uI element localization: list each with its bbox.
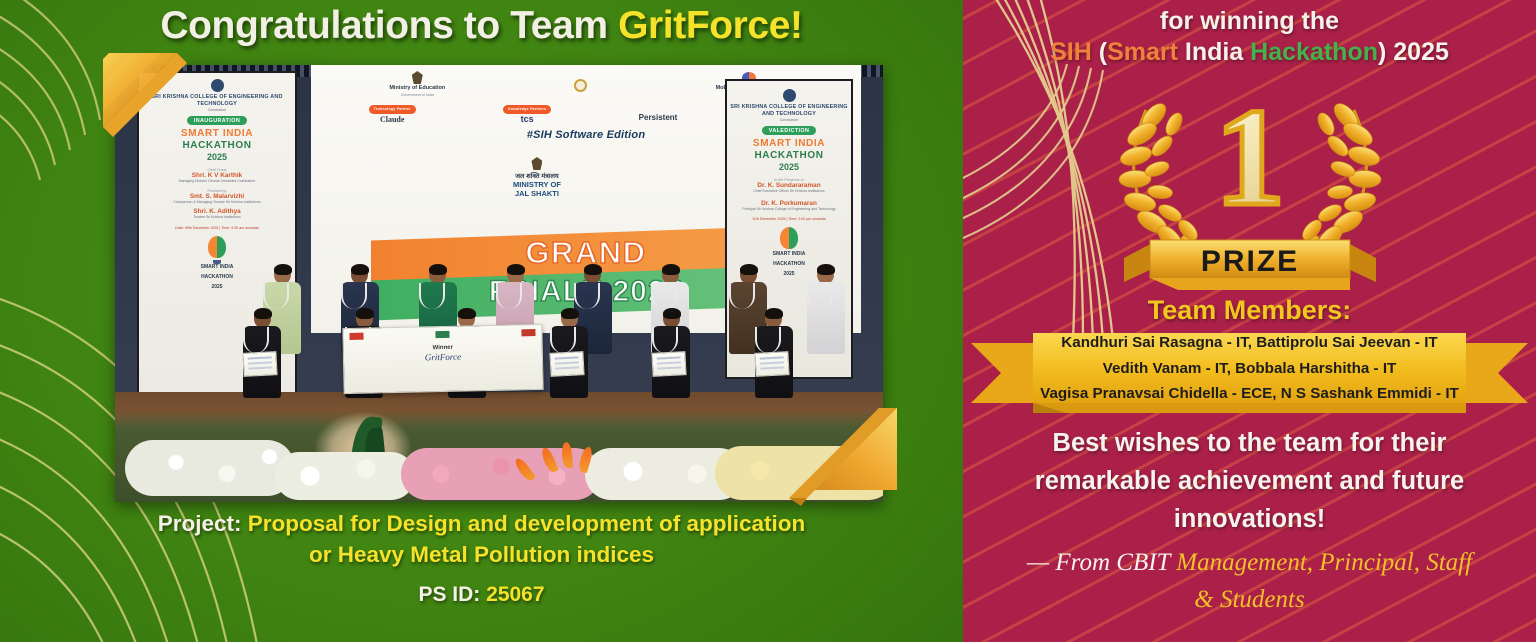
standee-right-date: 11th December 2025 | Time: 2:00 pm onwar… bbox=[727, 217, 851, 221]
winner-cheque: Winner GritForce bbox=[342, 324, 543, 394]
wishes-line-1: Best wishes to the team for their bbox=[985, 424, 1514, 462]
knowledge-partner-tag: Knowledge Partners bbox=[503, 105, 551, 114]
right-maroon-panel: for winning the SIH (Smart India Hackath… bbox=[963, 0, 1536, 642]
white-flowers bbox=[275, 452, 415, 500]
standee-left-name1: Shri. K V Karthik bbox=[139, 172, 295, 179]
person-hair bbox=[274, 264, 292, 275]
standee-left-desig2: Chairperson & Managing Trustee Sri Krish… bbox=[139, 200, 295, 205]
standee-left-desig3: Trustee Sri Krishna Institutions bbox=[139, 215, 295, 220]
page-title: Congratulations to Team GritForce! bbox=[0, 4, 963, 48]
best-wishes-block: Best wishes to the team for their remark… bbox=[985, 424, 1514, 618]
person-body bbox=[652, 326, 690, 398]
project-line-1: Project: Proposal for Design and develop… bbox=[0, 508, 963, 539]
person-body bbox=[550, 326, 588, 398]
project-caption: Project: Proposal for Design and develop… bbox=[0, 508, 963, 607]
laurel-wreath-first-prize-icon: 1 PRIZE bbox=[1110, 72, 1390, 297]
signoff: — From CBIT Management, Principal, Staff… bbox=[985, 544, 1514, 618]
certificate-icon bbox=[652, 351, 687, 377]
standee-left-event-l1: SMART INDIA bbox=[139, 128, 295, 140]
wishes-line-3: innovations! bbox=[985, 500, 1514, 538]
standee-right-name2: Dr. K. Porkumaran bbox=[727, 200, 851, 207]
hackathon-word: Hackathon bbox=[1250, 38, 1378, 66]
standee-right-event-tag: VALEDICTION bbox=[762, 126, 817, 135]
yellow-roses bbox=[715, 446, 883, 500]
person-hair bbox=[356, 308, 374, 319]
standee-right-name1: Dr. K. Sundararaman bbox=[727, 182, 851, 189]
team-member-row: Kandhuri Sai Rasagna - IT, Battiprolu Sa… bbox=[963, 330, 1536, 356]
wishes-line-2: remarkable achievement and future bbox=[985, 462, 1514, 500]
person-hair bbox=[663, 308, 681, 319]
standee-left-city: Coimbatore bbox=[139, 108, 295, 112]
team-members-list: Kandhuri Sai Rasagna - IT, Battiprolu Sa… bbox=[963, 330, 1536, 407]
team-member-photo bbox=[725, 309, 823, 398]
team-members-heading: Team Members: bbox=[963, 295, 1536, 326]
cheque-logo-icon bbox=[349, 333, 363, 340]
sponsor-ministry-education: Ministry of Education Government of Indi… bbox=[389, 71, 445, 99]
standee-left-desig1: Managing Director Deccan Industries Coim… bbox=[139, 179, 295, 184]
jal-shakti-en2: JAL SHAKTI bbox=[513, 189, 561, 198]
lanyard-icon bbox=[243, 327, 269, 353]
standee-right-desig1: Chief Executive Officer Sri Krishna Inst… bbox=[727, 189, 851, 194]
standee-right-year: 2025 bbox=[727, 162, 851, 172]
standee-right-event-l2: HACKATHON bbox=[727, 150, 851, 162]
header-line-2: SIH (Smart India Hackathon) 2025 bbox=[963, 36, 1536, 68]
standee-left-event-tag: INAUGURATION bbox=[187, 116, 247, 125]
standee-right-college: SRI KRISHNA COLLEGE OF ENGINEERING AND T… bbox=[727, 104, 851, 118]
person-hair bbox=[429, 264, 447, 275]
standee-left-name3: Shri. K. Adithya bbox=[139, 208, 295, 215]
group-photo-frame: Ministry of Education Government of Indi… bbox=[115, 65, 883, 502]
person-hair bbox=[458, 308, 476, 319]
standee-right-desig2: Principal Sri Krishna College of Enginee… bbox=[727, 207, 851, 212]
ps-id: PS ID: 25067 bbox=[0, 583, 963, 607]
lanyard-icon bbox=[755, 327, 781, 353]
lanyard-icon bbox=[550, 327, 576, 353]
ministry-education-sub: Government of India bbox=[389, 92, 445, 99]
jal-shakti-en1: MINISTRY OF bbox=[513, 180, 561, 189]
claude-logo-label: Claude bbox=[369, 116, 416, 123]
india-emblem-icon bbox=[412, 71, 423, 84]
persistent-logo-label: Persistent bbox=[639, 114, 678, 121]
person-hair bbox=[254, 308, 272, 319]
tech-partner-tag: Technology Partner bbox=[369, 105, 416, 114]
ministry-education-label: Ministry of Education bbox=[389, 85, 445, 91]
signoff-gold-2: & Students bbox=[1194, 586, 1304, 613]
standee-left-date: Date: 09th December 2025 | Time: 9:30 am… bbox=[139, 226, 295, 230]
group-photo: Ministry of Education Government of Indi… bbox=[115, 65, 883, 502]
prize-rank-number: 1 bbox=[1215, 80, 1285, 235]
lanyard-icon bbox=[652, 327, 678, 353]
team-member-photo bbox=[213, 309, 311, 398]
person-hair bbox=[662, 264, 680, 275]
smart-word: Smart bbox=[1107, 38, 1178, 66]
person-hair bbox=[561, 308, 579, 319]
certificate-icon bbox=[754, 351, 789, 377]
team-member-photo bbox=[622, 309, 720, 398]
white-flowers bbox=[125, 440, 295, 496]
team-member-row: Vagisa Pranavsai Chidella - ECE, N S Sas… bbox=[963, 381, 1536, 407]
person-hair bbox=[351, 264, 369, 275]
certificate-icon bbox=[243, 351, 278, 377]
gear-icon bbox=[574, 79, 587, 92]
college-crest-icon bbox=[211, 79, 224, 92]
photo-floral-arrangement bbox=[115, 410, 883, 502]
prize-ribbon-label: PRIZE bbox=[1200, 245, 1298, 278]
signoff-prefix: — From CBIT bbox=[1027, 549, 1176, 576]
india-emblem-icon bbox=[531, 157, 542, 170]
person-hair bbox=[507, 264, 525, 275]
cheque-logo-icon bbox=[521, 329, 535, 336]
sponsor-aicte bbox=[574, 79, 587, 92]
tcs-logo-label: tcs bbox=[503, 116, 551, 123]
certificate-icon bbox=[550, 351, 585, 377]
ministry-jal-shakti-logo: जल शक्ति मंत्रालय MINISTRY OF JAL SHAKTI bbox=[513, 157, 561, 198]
left-green-panel: Congratulations to Team GritForce! Minis… bbox=[0, 0, 963, 642]
sponsor-persistent: Persistent bbox=[639, 107, 678, 121]
cheque-logos-row bbox=[349, 329, 535, 340]
cheque-logo-icon bbox=[435, 331, 449, 338]
person-hair bbox=[817, 264, 835, 275]
project-title-line1: Proposal for Design and development of a… bbox=[248, 511, 806, 536]
photo-people-group: Winner GritForce bbox=[115, 248, 883, 398]
sponsor-tcs: Knowledge Partners tcs bbox=[503, 105, 551, 123]
header-line-1: for winning the bbox=[963, 6, 1536, 36]
person-body bbox=[243, 326, 281, 398]
congratulations-poster: Congratulations to Team GritForce! Minis… bbox=[0, 0, 1536, 642]
project-title-line2: or Heavy Metal Pollution indices bbox=[0, 539, 963, 570]
person-hair bbox=[765, 308, 783, 319]
standee-left-college: SRI KRISHNA COLLEGE OF ENGINEERING AND T… bbox=[139, 94, 295, 108]
india-word: India bbox=[1178, 38, 1250, 66]
standee-right-city: Coimbatore bbox=[727, 118, 851, 122]
right-header: for winning the SIH (Smart India Hackath… bbox=[963, 6, 1536, 68]
standee-left-name2: Smt. S. Malarvizhi bbox=[139, 193, 295, 200]
team-member-row: Vedith Vanam - IT, Bobbala Harshitha - I… bbox=[963, 356, 1536, 382]
sih-acronym: SIH bbox=[1050, 38, 1092, 66]
standee-left-event-l2: HACKATHON bbox=[139, 140, 295, 152]
standee-left-year: 2025 bbox=[139, 152, 295, 162]
person-body bbox=[755, 326, 793, 398]
close-paren: ) bbox=[1378, 38, 1393, 66]
open-paren: ( bbox=[1092, 38, 1107, 66]
sponsor-claude: Technology Partner Claude bbox=[369, 105, 416, 123]
title-prefix: Congratulations to Team bbox=[160, 4, 618, 47]
standee-right-event-l1: SMART INDIA bbox=[727, 138, 851, 150]
ps-id-label: PS ID: bbox=[418, 583, 486, 606]
ps-id-value: 25067 bbox=[486, 583, 544, 606]
jal-shakti-hindi: जल शक्ति मंत्रालय bbox=[513, 171, 561, 180]
person-hair bbox=[740, 264, 758, 275]
person-hair bbox=[584, 264, 602, 275]
project-label: Project: bbox=[158, 511, 248, 536]
header-year: 2025 bbox=[1393, 38, 1449, 66]
title-team-name: GritForce! bbox=[618, 4, 803, 47]
signoff-gold-1: Management, Principal, Staff bbox=[1176, 549, 1472, 576]
college-crest-icon bbox=[783, 89, 796, 102]
